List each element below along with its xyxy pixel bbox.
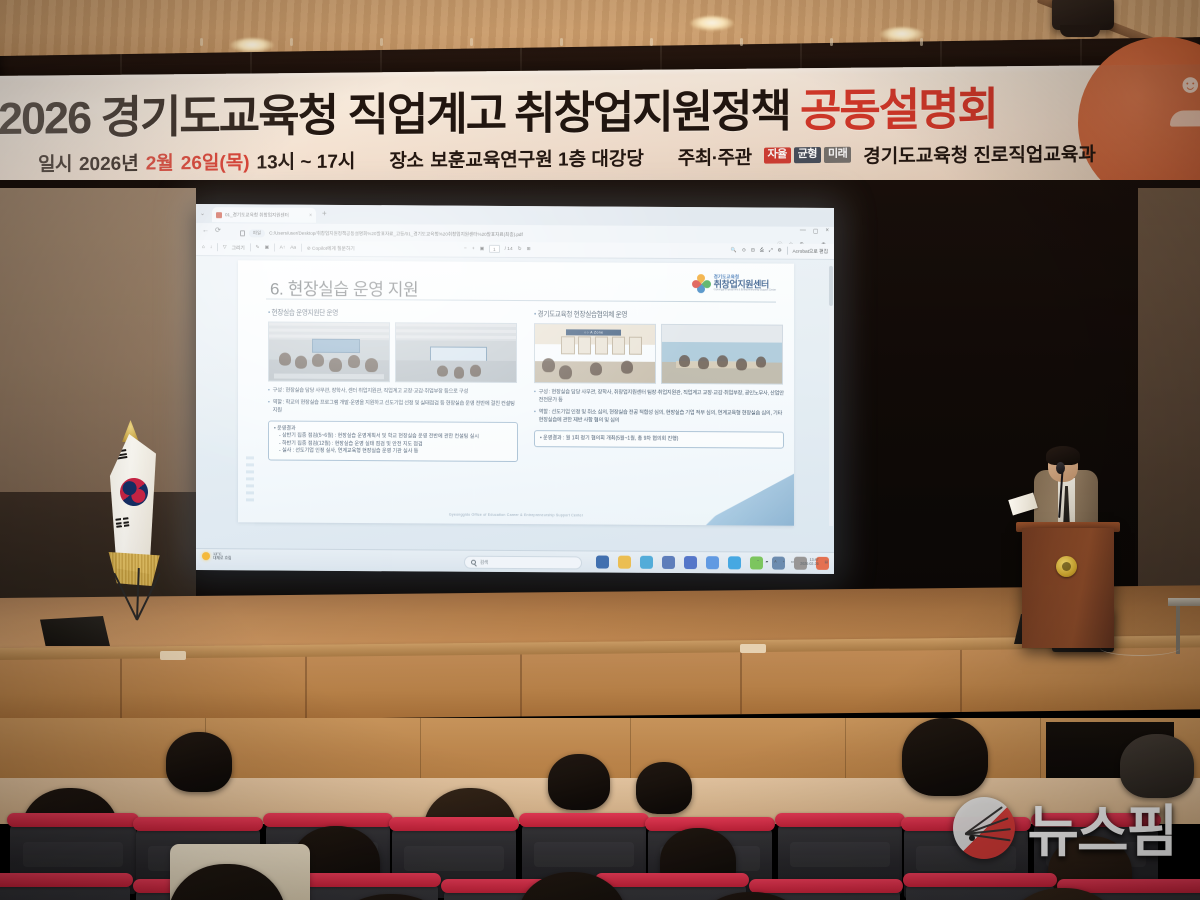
tray-chevron-icon[interactable]: ⌃ xyxy=(756,560,759,564)
taskbar-system-tray[interactable]: ⌃ ▰ A ◖ ▭ 13:47 2026-02-26 ▤ xyxy=(756,557,828,566)
fit-page-button[interactable]: ▣ xyxy=(480,246,485,251)
audience-person xyxy=(636,762,692,814)
left-bullet-2: 역할 : 학교의 현장실습 프로그램 개발·운영을 지원하고 선도기업 선정 및… xyxy=(273,399,518,416)
clock-date: 2026-02-26 xyxy=(800,562,818,566)
slide-right-column: 경기도교육청 현장실습협의체 운영 ○○ A Zone xyxy=(534,308,784,449)
podium xyxy=(1022,528,1114,648)
favicon-icon xyxy=(216,212,222,218)
file-icon xyxy=(240,230,245,236)
pdf-toolbar-right-group[interactable]: 🔍 ⊙ ⊟ ⎙ ⤢ ⚙ Acrobat으로 편집 xyxy=(731,246,828,255)
left-result-box: • 운영결과 - 상반기 집중 점검(5~6월) : 현장실습 운영계획서 및 … xyxy=(268,420,518,462)
ceiling-light xyxy=(690,16,734,31)
page-total-label: / 14 xyxy=(505,246,513,251)
banner-chip-3: 미래 xyxy=(824,147,851,163)
search-placeholder: 검색 xyxy=(480,559,488,565)
projection-screen: ⌄ 01_경기도교육청 취창업지원센터 × + ← ⟳ 파일 C:/Users/… xyxy=(196,204,834,574)
weather-desc: 대체로 흐림 xyxy=(213,557,232,561)
taskbar-icon-teams[interactable] xyxy=(706,556,719,569)
taskbar-search-input[interactable]: 검색 xyxy=(464,556,582,570)
newspim-logo-icon xyxy=(953,797,1015,859)
seat xyxy=(0,882,130,900)
back-icon[interactable]: ← xyxy=(202,227,209,234)
flag-trigram-gon xyxy=(115,517,129,530)
browser-nav-buttons: ← ⟳ xyxy=(202,226,221,234)
pdf-slide-page: 6. 현장실습 운영 지원 경기도교육청 취창업지원센터 Gyeonggi Em… xyxy=(238,260,794,525)
photo-zone-booth: ○○ A Zone xyxy=(534,323,656,384)
pdf-highlight-icon[interactable]: ✎ xyxy=(255,245,259,250)
taeguk-symbol xyxy=(116,474,151,509)
pdf-download-icon[interactable]: ↓ xyxy=(210,245,212,250)
left-column-heading: 현장실습 운영지원단 운영 xyxy=(268,306,518,318)
reload-icon[interactable]: ⟳ xyxy=(215,226,221,234)
battery-icon[interactable]: ▭ xyxy=(791,560,794,564)
window-controls[interactable]: — ▢ × xyxy=(800,228,829,235)
search-icon[interactable]: 🔍 xyxy=(731,248,737,253)
taskbar-icon-edge[interactable] xyxy=(640,556,653,569)
banner-host-chips: 자율 균형 미래 xyxy=(764,147,852,164)
sun-icon xyxy=(202,552,210,560)
watermark: 뉴스핌 xyxy=(953,787,1176,868)
copilot-button[interactable]: ⊘ Copilot에게 질문하기 xyxy=(307,244,355,251)
pdf-draw-label[interactable]: 그리기 xyxy=(232,244,245,251)
pdf-toolbar-left-group[interactable]: ⌂ ↓ ▽ 그리기 ✎ ▣ A↑ Aa ⊘ Copilot에게 질문하기 xyxy=(202,243,355,252)
banner-date-day: 26일(목) xyxy=(181,147,250,175)
slide-title: 6. 현장실습 운영 지원 xyxy=(270,275,418,301)
volume-icon[interactable]: ◖ xyxy=(783,560,785,564)
taskbar-clock[interactable]: 13:47 2026-02-26 xyxy=(800,558,818,567)
pen-settings-icon[interactable]: ⊙ xyxy=(742,248,746,253)
slide-title-divider xyxy=(266,298,776,302)
stage-cable xyxy=(1100,640,1180,656)
banner-date-month: 2월 xyxy=(146,148,174,175)
sidebar-icon[interactable]: ⊟ xyxy=(751,248,755,253)
slide-logo: 경기도교육청 취창업지원센터 Gyeonggi Employment & Ent… xyxy=(693,275,776,293)
right-bullet-1: 구성 : 현장실습 담당 사무관, 장학사, 취창업지원센터 팀장·취업지원관,… xyxy=(539,389,784,406)
right-result-box: • 운영결과 : 월 1회 정기 협의회 개최(5월~1월, 총 9차 협의회 … xyxy=(534,430,784,449)
pdf-draw-icon[interactable]: ▽ xyxy=(223,245,227,250)
slide-footer: Gyeonggido Office of Education Career & … xyxy=(238,511,794,518)
zoom-out-button[interactable]: − xyxy=(464,246,467,251)
rotate-button[interactable]: ↻ xyxy=(518,247,522,252)
banner-chip-1: 자율 xyxy=(764,147,791,163)
layout-button[interactable]: ⊞ xyxy=(527,247,531,252)
print-icon[interactable]: ⎙ xyxy=(760,247,764,253)
left-result-line-3: - 실사 : 선도기업 인정 실사, 연계교육형 현장실습 운영 기관 실사 등 xyxy=(274,448,512,457)
microphone-icon xyxy=(1056,462,1065,474)
right-result-line-1: • 운영결과 : 월 1회 정기 협의회 개최(5월~1월, 총 9차 협의회 … xyxy=(540,435,778,444)
banner-title-highlight: 공동설명회 xyxy=(800,72,997,139)
url-text: C:/Users/user/Desktop/취창업지원정책공동설명회%20발표자… xyxy=(269,230,523,238)
windows-taskbar: 13°C 대체로 흐림 검색 xyxy=(196,548,834,574)
banner-chip-2: 균형 xyxy=(794,147,821,163)
audience-person xyxy=(902,718,988,796)
zoom-in-button[interactable]: + xyxy=(472,246,475,251)
projector xyxy=(1052,0,1114,30)
stage-floor-monitor-left xyxy=(40,616,110,646)
right-column-photos: ○○ A Zone xyxy=(534,323,784,385)
banner-date-time: 13시 ~ 17시 xyxy=(257,146,356,174)
slide-left-decoration xyxy=(246,456,254,504)
wifi-icon[interactable]: ▰ xyxy=(765,560,768,564)
audience-person xyxy=(548,754,610,810)
stage-marker xyxy=(740,644,766,653)
pdf-page-controls[interactable]: − + ▣ 1 / 14 ↻ ⊞ xyxy=(464,245,531,253)
pinwheel-logo-icon xyxy=(693,275,710,292)
flag-stand xyxy=(96,556,180,620)
pdf-read-aloud-icon[interactable]: Aa xyxy=(290,245,296,250)
banner-date-label: 일시 xyxy=(38,149,72,176)
url-scheme-label: 파일 xyxy=(249,229,265,237)
banner-date-year: 2026년 xyxy=(79,148,139,176)
photo-conference-room xyxy=(661,324,783,385)
stage-right-wall xyxy=(1138,188,1200,608)
tab-list-chevron-icon[interactable]: ⌄ xyxy=(200,210,205,217)
new-tab-button[interactable]: + xyxy=(322,210,327,218)
logo-english-name: Gyeonggi Employment & Entrepreneurship S… xyxy=(714,289,776,292)
right-column-bullets: •구성 : 현장실습 담당 사무관, 장학사, 취창업지원센터 팀장·취업지원관… xyxy=(534,389,784,426)
taskbar-icon-outlook[interactable] xyxy=(728,556,741,569)
person-icon: ☻ xyxy=(1177,70,1200,96)
browser-tab-title: 01_경기도교육청 취창업지원센터 xyxy=(225,212,289,218)
notification-icon[interactable]: ▤ xyxy=(825,560,828,564)
banner-place-value: 보훈교육연구원 1층 대강당 xyxy=(430,143,643,172)
taskbar-icon-word[interactable] xyxy=(684,556,697,569)
pdf-scrollbar[interactable] xyxy=(829,264,833,526)
pdf-home-icon[interactable]: ⌂ xyxy=(202,245,205,250)
banner-title-main: 2026 경기도교육청 직업계고 xyxy=(0,77,505,147)
auditorium-photo-scene: ☻ 2026 경기도교육청 직업계고 취창업지원정책 공동설명회 일시 2026… xyxy=(0,0,1200,900)
banner-place-label: 장소 xyxy=(389,145,423,172)
fullscreen-icon[interactable]: ⤢ xyxy=(769,248,773,254)
left-column-photos xyxy=(268,321,518,383)
search-icon xyxy=(471,560,476,565)
audience-person xyxy=(166,732,232,792)
photo-meeting-2 xyxy=(395,322,517,383)
taskbar-icon-folder[interactable] xyxy=(618,556,631,569)
page-number-input[interactable]: 1 xyxy=(489,245,499,253)
settings-gear-icon[interactable]: ⚙ xyxy=(778,248,782,253)
taskbar-icon-file-explorer[interactable] xyxy=(596,555,609,568)
ime-icon[interactable]: A xyxy=(774,560,776,564)
photo-meeting-1 xyxy=(268,321,390,382)
banner-host-value: 경기도교육청 진로직업교육과 xyxy=(863,139,1096,168)
banner-title: 2026 경기도교육청 직업계고 취창업지원정책 공동설명회 xyxy=(0,73,1138,144)
pdf-erase-icon[interactable]: ▣ xyxy=(264,245,269,250)
browser-tab[interactable]: 01_경기도교육청 취창업지원센터 × xyxy=(212,207,316,223)
left-column-bullets: •구성 : 현장실습 담당 사무관, 장학사, 센터 취업지원관, 직업계고 교… xyxy=(268,387,518,416)
acrobat-edit-button[interactable]: Acrobat으로 편집 xyxy=(792,247,828,254)
stage-marker xyxy=(160,651,186,660)
event-banner: ☻ 2026 경기도교육청 직업계고 취창업지원정책 공동설명회 일시 2026… xyxy=(0,64,1200,192)
banner-date-day-value: 26일(목) xyxy=(181,152,250,174)
valance-hooks xyxy=(0,38,1200,48)
banner-title-segment2: 취창업지원정책 xyxy=(514,74,790,142)
close-window-icon[interactable]: × xyxy=(825,228,829,235)
photo-zone-sign: ○○ A Zone xyxy=(566,329,621,336)
banner-host-label: 주최·주관 xyxy=(678,142,752,170)
side-table xyxy=(1168,598,1200,606)
left-bullet-1: 구성 : 현장실습 담당 사무관, 장학사, 센터 취업지원관, 직업계고 교장… xyxy=(273,388,518,397)
minimize-icon[interactable]: — xyxy=(800,228,806,235)
podium-emblem xyxy=(1056,556,1077,577)
desk-icon xyxy=(1170,110,1200,126)
close-icon[interactable]: × xyxy=(309,212,312,218)
pdf-text-size-icon[interactable]: A↑ xyxy=(280,245,286,250)
right-bullet-2: 역할 : 선도기업 인정 및 취소 심의, 현장실습 전공 적합성 심의, 현장… xyxy=(539,409,784,426)
weather-widget[interactable]: 13°C 대체로 흐림 xyxy=(202,552,232,561)
slide-left-column: 현장실습 운영지원단 운영 xyxy=(268,306,518,461)
taskbar-icon-store[interactable] xyxy=(662,556,675,569)
watermark-text: 뉴스핌 xyxy=(1027,787,1176,868)
maximize-icon[interactable]: ▢ xyxy=(813,228,819,235)
right-column-heading: 경기도교육청 현장실습협의체 운영 xyxy=(534,308,784,320)
